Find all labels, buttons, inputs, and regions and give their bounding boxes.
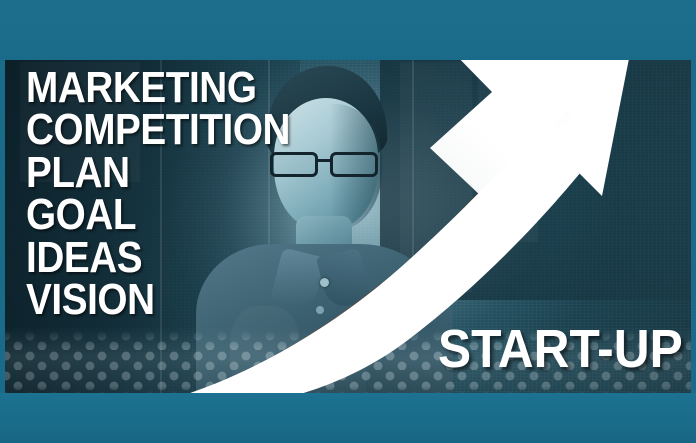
keyword-goal: GOAL	[26, 195, 325, 235]
frame-bar-right	[691, 60, 696, 393]
keyword-competition: COMPETITION	[26, 110, 325, 150]
startup-banner: MARKETING COMPETITION PLAN GOAL IDEAS VI…	[0, 0, 696, 443]
keyword-marketing: MARKETING	[26, 68, 325, 108]
frame-bar-top	[0, 0, 696, 60]
headline-start-up: START-UP	[438, 322, 683, 376]
frame-bar-left	[0, 60, 5, 393]
keyword-vision: VISION	[26, 280, 325, 320]
keyword-list: MARKETING COMPETITION PLAN GOAL IDEAS VI…	[26, 68, 366, 323]
keyword-plan: PLAN	[26, 153, 325, 193]
frame-bar-bottom	[0, 393, 696, 443]
keyword-ideas: IDEAS	[26, 238, 325, 278]
